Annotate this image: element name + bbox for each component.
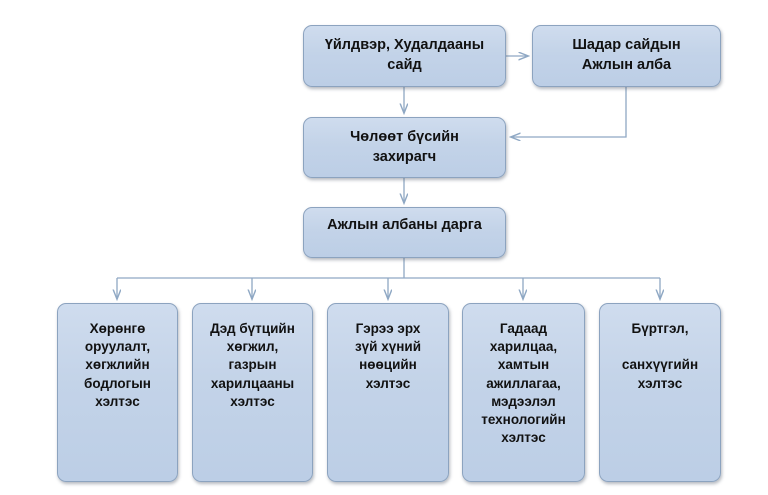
node-department-foreign-relations-cooperation-it: Гадаад харилцаа, хамтын ажиллагаа, мэдээ… — [462, 303, 585, 482]
node-department-2-label: Дэд бүтцийн хөгжил, газрын харилцааны хэ… — [201, 320, 304, 411]
node-free-zone-governor: Чөлөөт бүсийн захирагч — [303, 117, 506, 178]
node-office-head: Ажлын албаны дарга — [303, 207, 506, 258]
node-department-infrastructure-land-relations: Дэд бүтцийн хөгжил, газрын харилцааны хэ… — [192, 303, 313, 482]
org-chart-canvas: Үйлдвэр, Худалдааны сайд Шадар сайдын Аж… — [0, 0, 768, 495]
connector-deputy-office-to-zone-governor — [511, 87, 626, 137]
node-deputy-prime-minister-office: Шадар сайдын Ажлын алба — [532, 25, 721, 87]
node-office-head-label: Ажлын албаны дарга — [312, 216, 497, 236]
node-minister-of-industry-and-trade: Үйлдвэр, Худалдааны сайд — [303, 25, 506, 87]
node-department-contract-legal-human-resources: Гэрээ эрх зүй хүний нөөцийн хэлтэс — [327, 303, 449, 482]
node-minister-label: Үйлдвэр, Худалдааны сайд — [312, 36, 497, 75]
node-department-investment-development-policy: Хөрөнгө оруулалт, хөгжлийн бодлогын хэлт… — [57, 303, 178, 482]
node-zone-governor-label: Чөлөөт бүсийн захирагч — [312, 128, 497, 167]
node-department-registration-finance: Бүртгэл, санхүүгийн хэлтэс — [599, 303, 721, 482]
node-department-4-label: Гадаад харилцаа, хамтын ажиллагаа, мэдээ… — [471, 320, 576, 448]
connector-office-head-to-bus — [117, 258, 660, 278]
node-department-5-label: Бүртгэл, санхүүгийн хэлтэс — [608, 320, 712, 393]
node-department-3-label: Гэрээ эрх зүй хүний нөөцийн хэлтэс — [336, 320, 440, 393]
node-department-1-label: Хөрөнгө оруулалт, хөгжлийн бодлогын хэлт… — [66, 320, 169, 411]
node-deputy-office-label: Шадар сайдын Ажлын алба — [541, 36, 712, 75]
